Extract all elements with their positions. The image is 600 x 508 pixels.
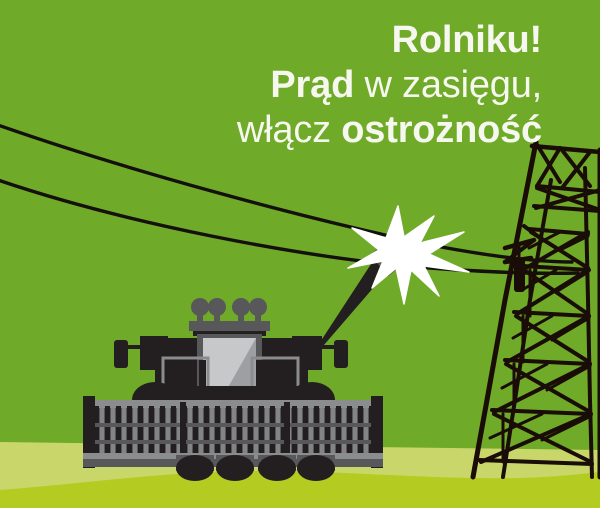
wheel-1 <box>176 455 214 481</box>
mirror-glass-left <box>114 340 128 368</box>
wheel-2 <box>216 455 254 481</box>
header-rail-mid-1 <box>87 423 379 427</box>
poster-illustration <box>0 0 600 508</box>
poster-canvas: Rolniku! Prąd w zasięgu, włącz ostrożnoś… <box>0 0 600 508</box>
header-rail-mid-2 <box>87 440 379 444</box>
wheel-4 <box>297 455 335 481</box>
cab-roof <box>189 321 270 331</box>
mirror-glass-right <box>334 340 348 368</box>
insulator <box>514 258 525 292</box>
wheel-3 <box>258 455 296 481</box>
